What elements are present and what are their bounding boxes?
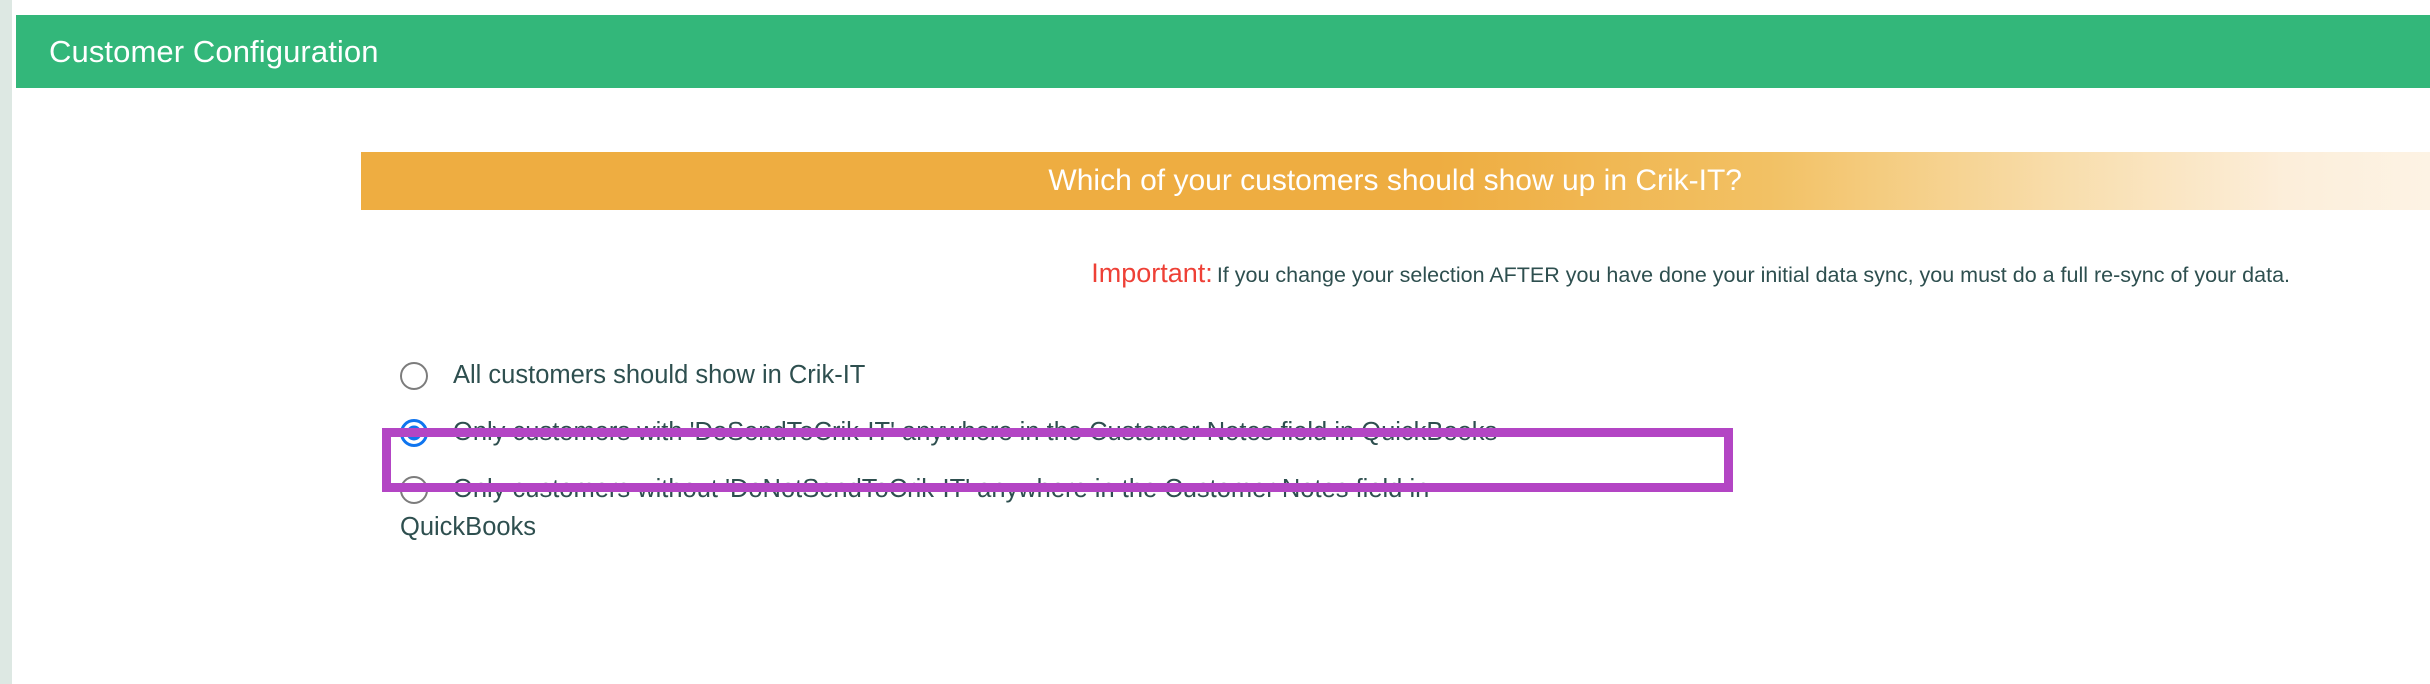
radio-option-all-customers[interactable]: All customers should show in Crik-IT bbox=[400, 358, 1690, 394]
radio-label-all-customers: All customers should show in Crik-IT bbox=[453, 356, 865, 394]
important-body-text: If you change your selection AFTER you h… bbox=[1217, 263, 2290, 287]
question-banner-text: Which of your customers should show up i… bbox=[1048, 166, 2430, 196]
question-banner: Which of your customers should show up i… bbox=[361, 152, 2430, 210]
left-gutter-strip bbox=[0, 0, 12, 684]
radio-icon-only-without-donotsendtocrikit[interactable] bbox=[400, 476, 428, 504]
radio-option-only-without-donotsendtocrikit[interactable]: Only customers without 'DoNotSendToCrik-… bbox=[400, 472, 1690, 546]
important-note: Important:If you change your selection A… bbox=[0, 258, 2290, 289]
customer-visibility-radio-group: All customers should show in Crik-IT Onl… bbox=[400, 358, 1690, 546]
radio-label-only-with-dosendtocrikit: Only customers with 'DoSendToCrik-IT' an… bbox=[453, 413, 1497, 451]
radio-label-only-without-donotsendtocrikit: Only customers without 'DoNotSendToCrik-… bbox=[453, 470, 1463, 546]
page-title: Customer Configuration bbox=[16, 36, 379, 67]
radio-icon-only-with-dosendtocrikit[interactable] bbox=[400, 419, 428, 447]
radio-option-only-with-dosendtocrikit[interactable]: Only customers with 'DoSendToCrik-IT' an… bbox=[400, 415, 1690, 451]
radio-label-line-2: QuickBooks bbox=[400, 508, 1463, 546]
important-label: Important: bbox=[1091, 258, 1213, 288]
radio-label-line-1: Only customers without 'DoNotSendToCrik-… bbox=[453, 475, 1429, 503]
page-header-bar: Customer Configuration bbox=[16, 15, 2430, 88]
radio-icon-all-customers[interactable] bbox=[400, 362, 428, 390]
